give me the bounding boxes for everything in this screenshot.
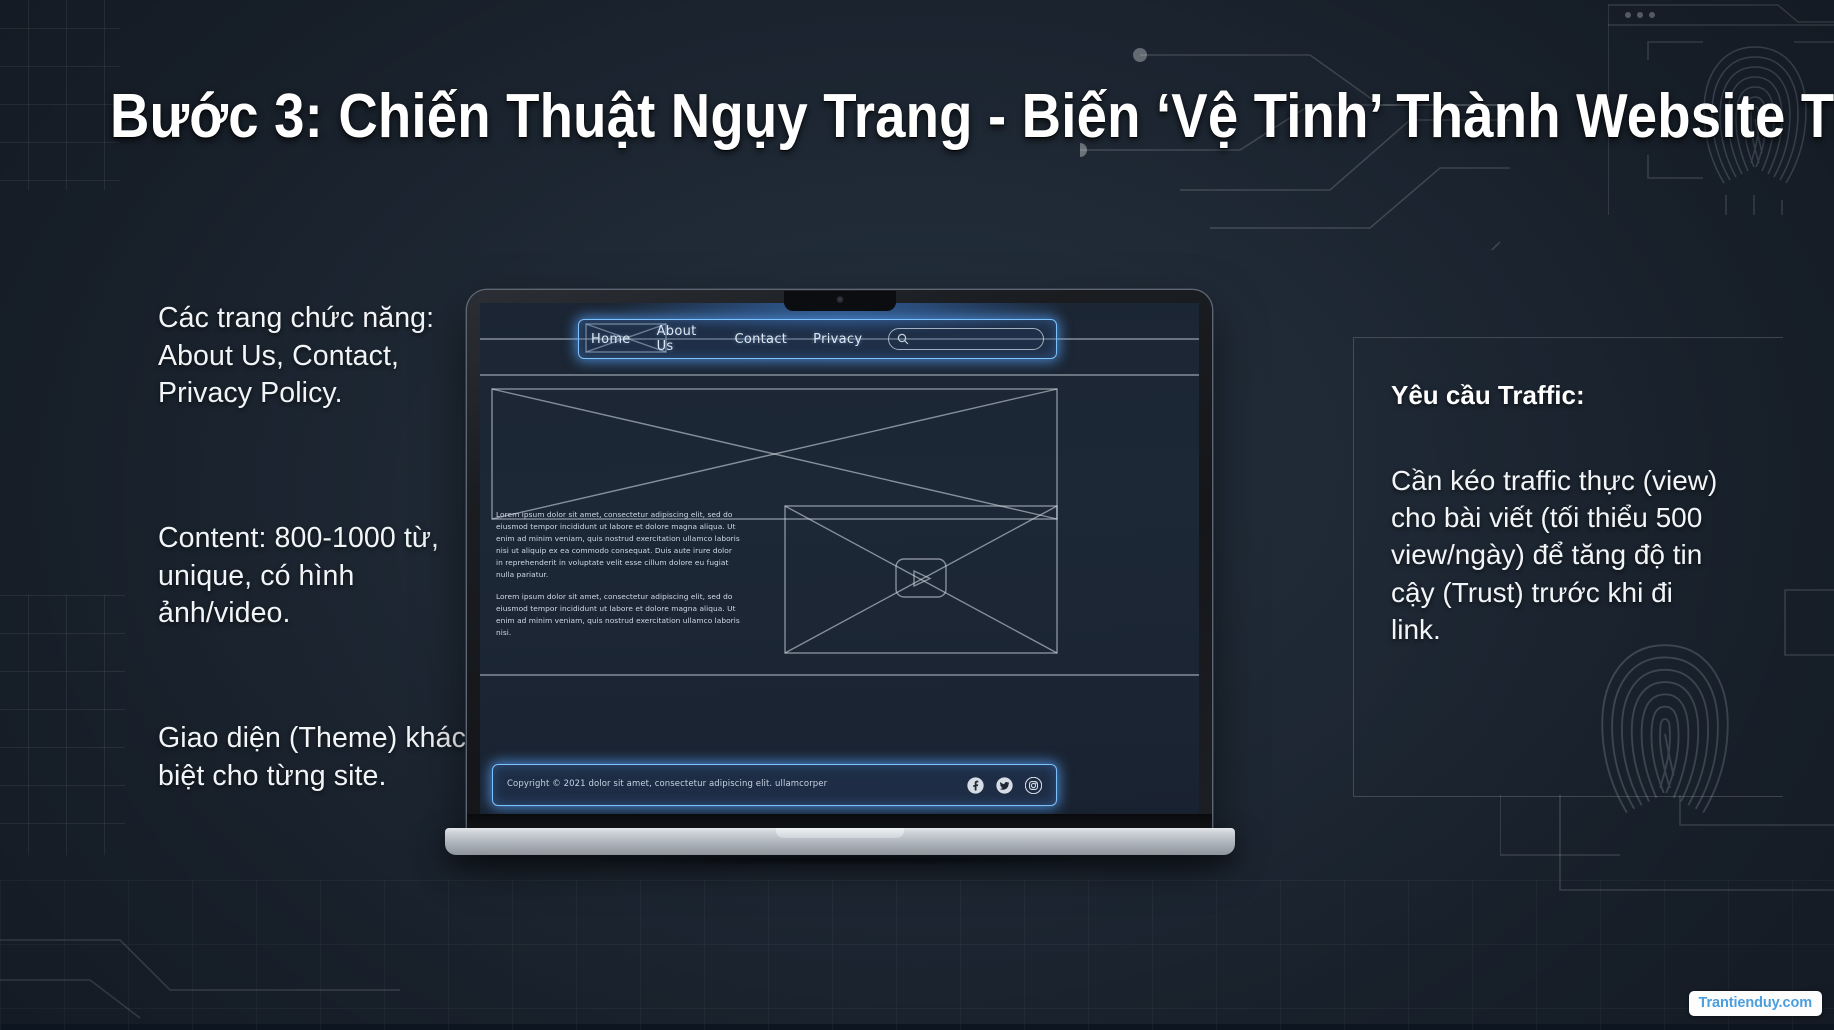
footer-social-links — [967, 777, 1042, 794]
twitter-icon[interactable] — [996, 777, 1013, 794]
webcam-dot — [837, 297, 842, 302]
instagram-icon[interactable] — [1025, 777, 1042, 794]
laptop-mockup: Home About Us Contact Privacy Lorem ipsu… — [445, 290, 1235, 865]
watermark-badge: Trantienduy.com — [1689, 991, 1822, 1016]
traffic-panel-body: Cần kéo traffic thực (view) cho bài viết… — [1391, 462, 1721, 648]
nav-link-privacy[interactable]: Privacy — [813, 332, 862, 347]
footer-copyright: Copyright © 2021 dolor sit amet, consect… — [507, 778, 827, 791]
nav-link-home[interactable]: Home — [591, 332, 631, 347]
mockup-footer[interactable]: Copyright © 2021 dolor sit amet, consect… — [492, 764, 1057, 806]
page-title: Bước 3: Chiến Thuật Ngụy Trang - Biến ‘V… — [110, 84, 1724, 149]
laptop-screen: Home About Us Contact Privacy Lorem ipsu… — [480, 303, 1199, 820]
nav-link-contact[interactable]: Contact — [734, 332, 787, 347]
mockup-body-text: Lorem ipsum dolor sit amet, consectetur … — [496, 509, 741, 639]
note-theme-variation: Giao diện (Theme) khác biệt cho từng sit… — [158, 720, 468, 795]
body-paragraph-2: Lorem ipsum dolor sit amet, consectetur … — [496, 591, 741, 639]
nav-link-about-us[interactable]: About Us — [657, 324, 709, 354]
facebook-icon[interactable] — [967, 777, 984, 794]
laptop-lid: Home About Us Contact Privacy Lorem ipsu… — [467, 290, 1212, 835]
traffic-panel-title: Yêu cầu Traffic: — [1391, 380, 1585, 411]
body-paragraph-1: Lorem ipsum dolor sit amet, consectetur … — [496, 509, 741, 581]
search-input[interactable] — [888, 328, 1044, 350]
note-functional-pages: Các trang chức năng: About Us, Contact, … — [158, 300, 468, 413]
laptop-base — [445, 828, 1235, 855]
mockup-navbar[interactable]: Home About Us Contact Privacy — [578, 319, 1057, 359]
note-content-length: Content: 800-1000 từ, unique, có hình ản… — [158, 520, 468, 633]
search-icon — [897, 333, 909, 345]
laptop-base-shadow — [485, 853, 1195, 867]
